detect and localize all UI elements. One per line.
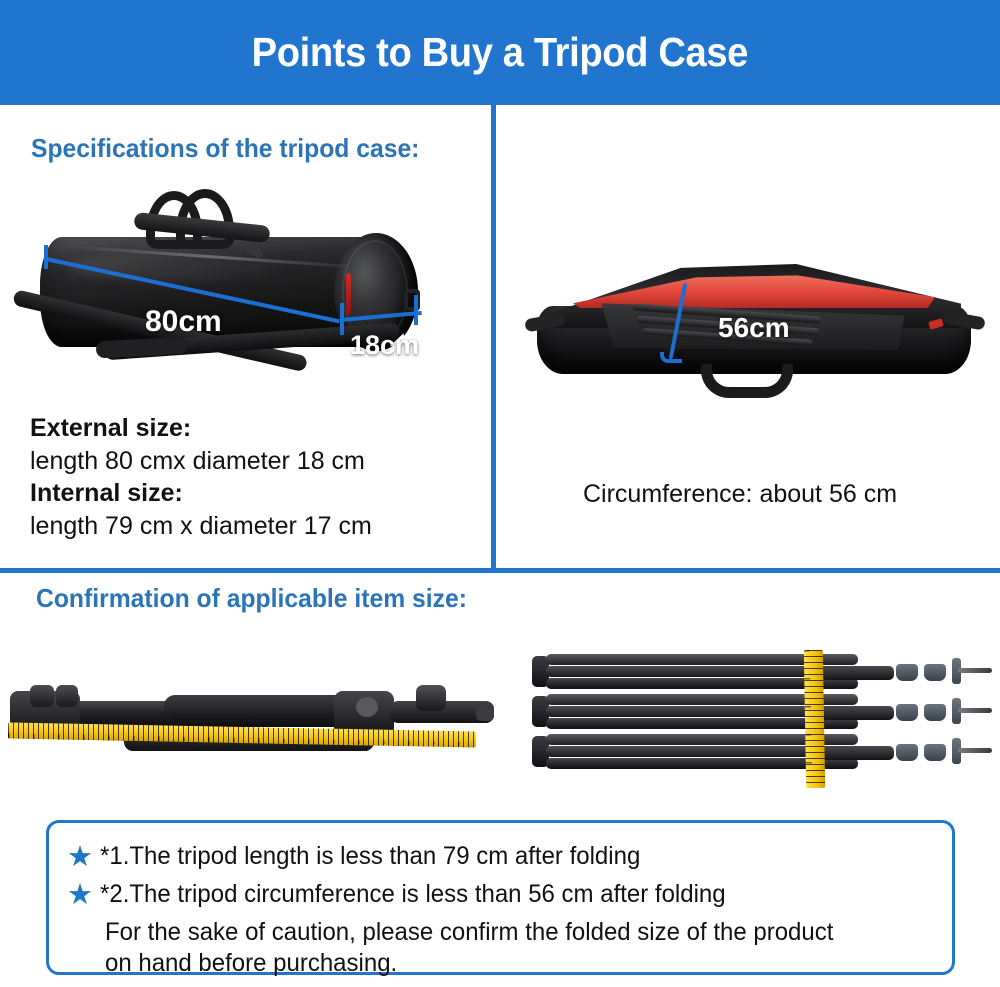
- notice-item-2-text: *2.The tripod circumference is less than…: [100, 879, 726, 910]
- circumference-measure-hook: [660, 352, 682, 363]
- notice-box: ★ *1.The tripod length is less than 79 c…: [46, 820, 955, 975]
- star-icon: ★: [67, 881, 93, 910]
- length-measure-end-cap: [44, 245, 48, 269]
- tripod-leg-section: [164, 695, 354, 720]
- tripod-foot: [924, 744, 946, 761]
- tripod-stack-neck: [820, 746, 894, 760]
- notice-continuation-line-2: on hand before purchasing.: [105, 948, 833, 979]
- tripod-foot: [924, 664, 946, 681]
- internal-size-label: Internal size:: [30, 477, 470, 510]
- tripod-stack-neck: [820, 706, 894, 720]
- tripod-joint-knob: [356, 697, 378, 717]
- tripod-foot: [924, 704, 946, 721]
- tripod-foot: [896, 664, 918, 681]
- notice-continuation-line-1: For the sake of caution, please confirm …: [105, 917, 833, 948]
- tripod-column-knob: [416, 685, 446, 711]
- tripod-stack-neck: [820, 666, 894, 680]
- specifications-text-block: External size: length 80 cmx diameter 18…: [30, 412, 470, 542]
- tripod-foot: [896, 704, 918, 721]
- notice-item-2: ★ *2.The tripod circumference is less th…: [67, 879, 752, 910]
- tripod-knob-b: [56, 685, 78, 707]
- diameter-measure-end-cap-right: [414, 295, 418, 325]
- tripod-column-end: [476, 703, 494, 721]
- notice-continuation: For the sake of caution, please confirm …: [105, 917, 833, 978]
- confirmation-heading: Confirmation of applicable item size:: [36, 583, 467, 614]
- tripod-spindle: [958, 708, 992, 713]
- length-callout-label: 80cm: [145, 305, 222, 339]
- bag-red-zipper-tab: [346, 273, 351, 315]
- star-icon: ★: [67, 843, 93, 872]
- external-size-value: length 80 cmx diameter 18 cm: [30, 445, 470, 478]
- closed-tripod-bag-photo: [8, 185, 458, 400]
- page-header: Points to Buy a Tripod Case: [0, 0, 1000, 105]
- notice-item-1: ★ *1.The tripod length is less than 79 c…: [67, 841, 663, 872]
- tripod-spindle: [958, 748, 992, 753]
- tripod-spindle: [958, 668, 992, 673]
- circumference-callout-label: 56cm: [718, 312, 790, 344]
- tripod-knob-a: [30, 685, 54, 707]
- circumference-caption: Circumference: about 56 cm: [583, 480, 897, 509]
- tripod-foot: [896, 744, 918, 761]
- folded-tripod-length-photo: [4, 655, 494, 790]
- specifications-heading: Specifications of the tripod case:: [31, 133, 419, 164]
- notice-item-1-text: *1.The tripod length is less than 79 cm …: [100, 841, 640, 872]
- folded-tripod-circumference-photo: [510, 640, 990, 795]
- page-title: Points to Buy a Tripod Case: [252, 29, 748, 76]
- external-size-label: External size:: [30, 412, 470, 445]
- diameter-measure-end-cap-left: [340, 303, 344, 335]
- diameter-callout-label: 18cm: [350, 330, 419, 361]
- internal-size-value: length 79 cm x diameter 17 cm: [30, 510, 470, 543]
- open-bag-handle: [701, 364, 793, 398]
- vertical-tape-measure: [804, 650, 825, 788]
